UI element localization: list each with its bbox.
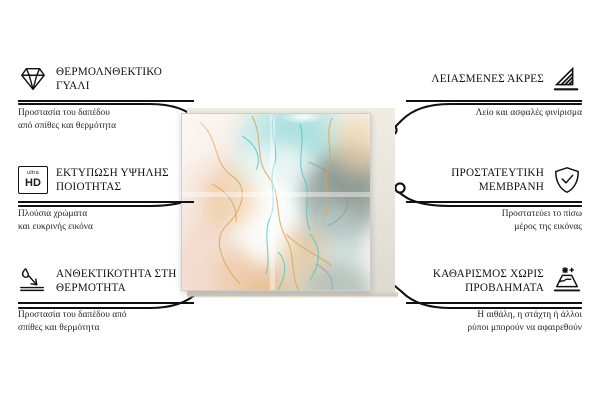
ultra-hd-icon-large-label: HD [25, 178, 41, 189]
feature-description: Πλούσια χρώματακαι ευκρινής εικόνα [18, 208, 194, 235]
shield-check-icon [552, 165, 582, 195]
feature-divider [18, 100, 194, 102]
feature-divider [406, 302, 582, 304]
feature-description: Η αιθάλη, η στάχτη ή άλλοιρύποι μπορούν … [406, 309, 582, 336]
feature-description: Λείο και ασφαλές φινίρισμα [406, 107, 582, 120]
ink-veins [182, 114, 371, 291]
feature-polished-edges[interactable]: ΛΕΙΑΣΜΕΝΕΣ ΆΚΡΕΣ Λείο και ασφαλές φινίρι… [406, 62, 582, 120]
ultra-hd-icon: ultra HD [18, 166, 48, 194]
feature-description: Προστασία του δαπέδου απόσπίθες και θερμ… [18, 309, 194, 336]
glass-panel [181, 113, 371, 291]
marble-artwork [182, 114, 370, 290]
feature-easy-cleaning[interactable]: ΚΑΘΑΡΙΣΜΟΣ ΧΩΡΙΣ ΠΡΟΒΛΗΜΑΤΑ Η αιθάλη, η … [406, 264, 582, 335]
polished-edges-icon [552, 64, 582, 94]
feature-divider [18, 302, 194, 304]
glass-highlight [280, 113, 326, 124]
feature-title: ΑΝΘΕΚΤΙΚΟΤΗΤΑ ΣΤΗ ΘΕΡΜΟΤΗΤΑ [56, 267, 194, 296]
feature-description: Προστατεύει το πίσωμέρος της εικόνας [406, 208, 582, 235]
feature-title: ΚΑΘΑΡΙΣΜΟΣ ΧΩΡΙΣ ΠΡΟΒΛΗΜΑΤΑ [406, 267, 544, 296]
feature-divider [18, 201, 194, 203]
reflection-mullion-horizontal [182, 192, 370, 197]
feature-heat-durability[interactable]: ΑΝΘΕΚΤΙΚΟΤΗΤΑ ΣΤΗ ΘΕΡΜΟΤΗΤΑ Προστασία το… [18, 264, 194, 335]
feature-title: ΛΕΙΑΣΜΕΝΕΣ ΆΚΡΕΣ [431, 72, 544, 86]
feature-protective-membrane[interactable]: ΠΡΟΣΤΑΤΕΥΤΙΚΗ ΜΕΜΒΡΑΝΗ Προστατεύει το πί… [406, 163, 582, 234]
feature-title: ΕΚΤΥΠΩΣΗ ΥΨΗΛΗΣ ΠΟΙΟΤΗΤΑΣ [56, 166, 194, 195]
feature-divider [406, 100, 582, 102]
easy-clean-icon [552, 266, 582, 296]
feature-heat-resistant-glass[interactable]: ΘΕΡΜΟΛΝΘΕΚΤΙΚΟ ΓΥΑΛΙ Προστασία του δαπέδ… [18, 62, 194, 133]
heat-resistance-icon [18, 266, 48, 296]
diamond-icon [18, 64, 48, 94]
product-image [173, 106, 398, 296]
feature-title: ΠΡΟΣΤΑΤΕΥΤΙΚΗ ΜΕΜΒΡΑΝΗ [406, 166, 544, 195]
feature-description: Προστασία του δαπέδουαπό σπίθες και θερμ… [18, 107, 194, 134]
reflection-mullion-vertical [270, 114, 275, 290]
feature-high-quality-print[interactable]: ultra HD ΕΚΤΥΠΩΣΗ ΥΨΗΛΗΣ ΠΟΙΟΤΗΤΑΣ Πλούσ… [18, 163, 194, 234]
feature-title: ΘΕΡΜΟΛΝΘΕΚΤΙΚΟ ΓΥΑΛΙ [56, 65, 194, 94]
infographic-stage: ΘΕΡΜΟΛΝΘΕΚΤΙΚΟ ΓΥΑΛΙ Προστασία του δαπέδ… [0, 0, 600, 400]
feature-divider [406, 201, 582, 203]
